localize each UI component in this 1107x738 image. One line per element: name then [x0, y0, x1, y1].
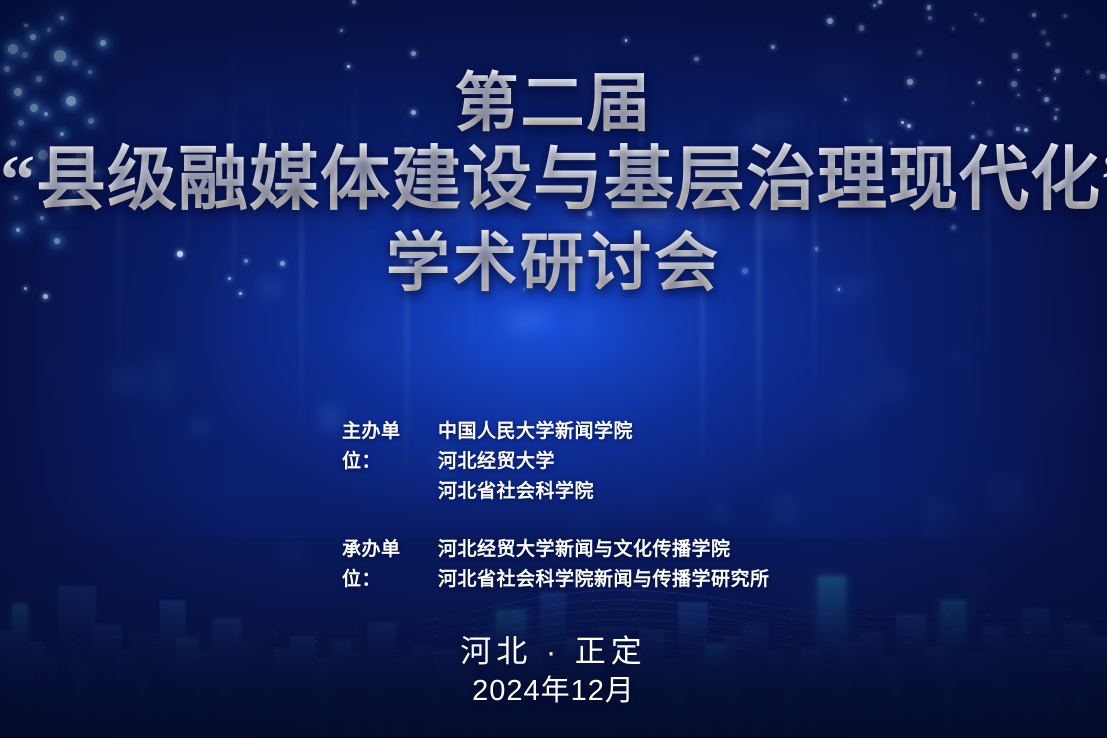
organizer-label: 主办单位： — [342, 417, 438, 477]
event-location: 河北 · 正定 — [0, 632, 1107, 672]
organizer-entry: 河北省社会科学院新闻与传播学研究所 — [438, 565, 862, 595]
event-date: 2024年12月 — [0, 672, 1107, 710]
organizer-block: 承办单位：河北经贸大学新闻与文化传播学院河北省社会科学院新闻与传播学研究所 — [342, 535, 862, 595]
organizer-block: 主办单位：中国人民大学新闻学院河北经贸大学河北省社会科学院 — [342, 417, 862, 507]
poster-title-line-3: 学术研讨会 — [0, 228, 1107, 300]
organizer-entry-list: 中国人民大学新闻学院河北经贸大学河北省社会科学院 — [438, 417, 862, 507]
organizer-section: 主办单位：中国人民大学新闻学院河北经贸大学河北省社会科学院承办单位：河北经贸大学… — [342, 417, 862, 595]
poster-content: 第二届 “县级融媒体建设与基层治理现代化” 学术研讨会 主办单位：中国人民大学新… — [0, 0, 1107, 738]
conference-poster: 第二届 “县级融媒体建设与基层治理现代化” 学术研讨会 主办单位：中国人民大学新… — [0, 0, 1107, 738]
organizer-entry-list: 河北经贸大学新闻与文化传播学院河北省社会科学院新闻与传播学研究所 — [438, 535, 862, 595]
poster-footer: 河北 · 正定 2024年12月 — [0, 632, 1107, 710]
organizer-entry: 河北省社会科学院 — [438, 477, 862, 507]
poster-title-line-2: “县级融媒体建设与基层治理现代化” — [0, 142, 1107, 220]
organizer-entry: 河北经贸大学新闻与文化传播学院 — [438, 535, 862, 565]
poster-title-line-1: 第二届 — [0, 68, 1107, 140]
organizer-label: 承办单位： — [342, 535, 438, 595]
organizer-entry: 中国人民大学新闻学院 — [438, 417, 862, 447]
organizer-entry: 河北经贸大学 — [438, 447, 862, 477]
